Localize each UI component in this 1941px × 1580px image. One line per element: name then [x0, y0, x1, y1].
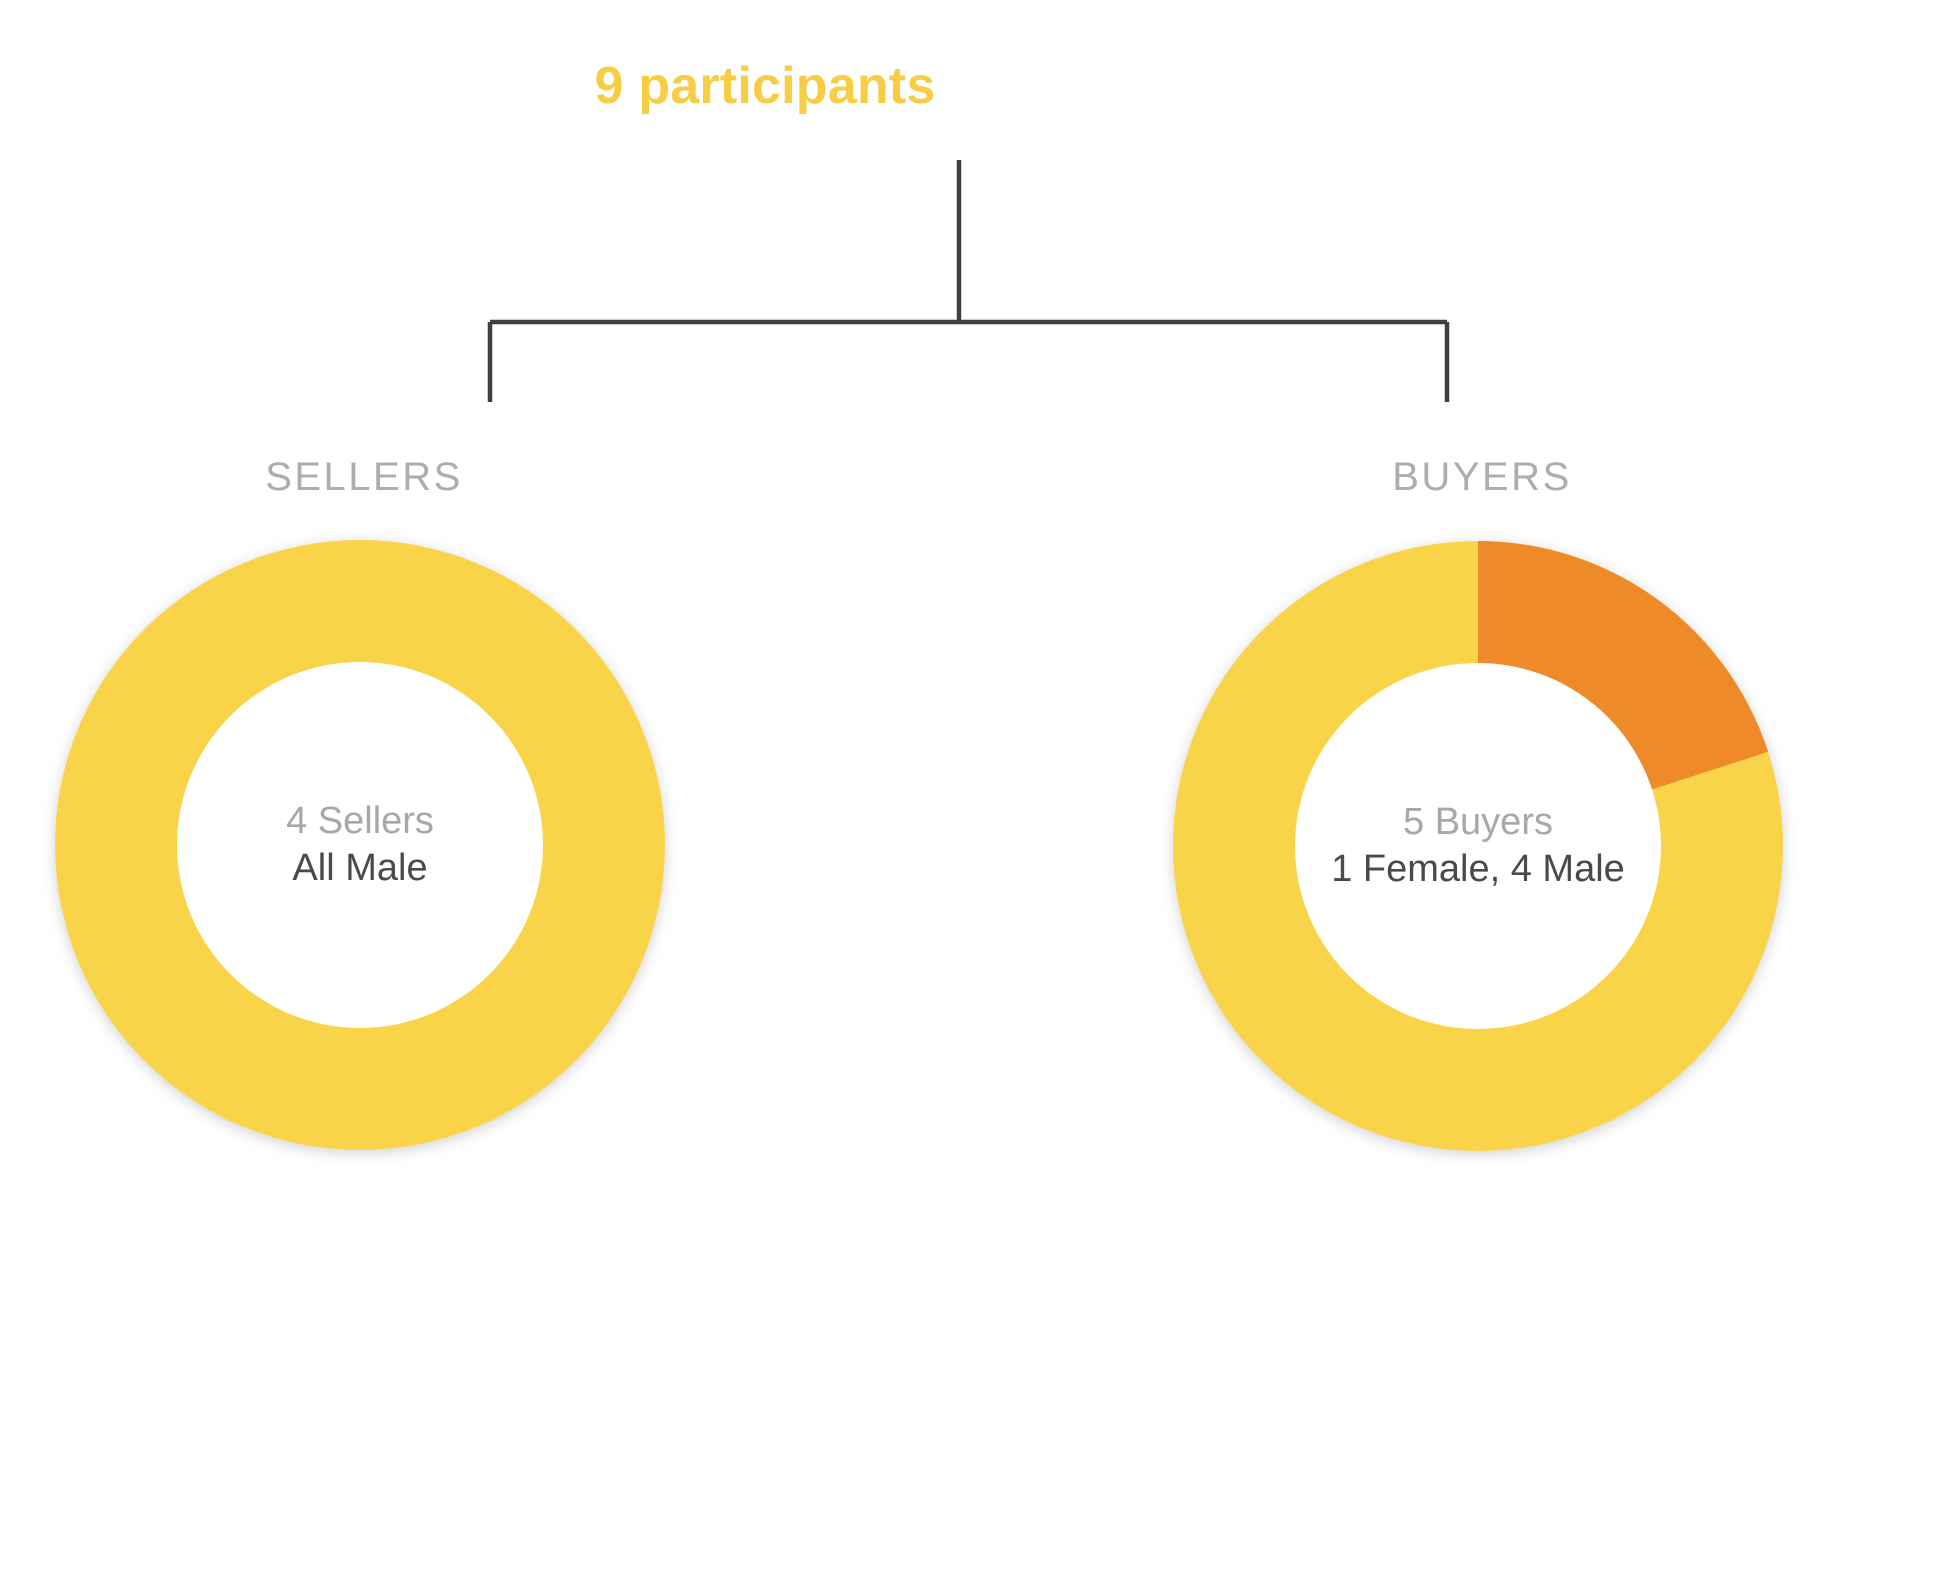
- donut-sellers-svg: [40, 525, 680, 1165]
- donut-hole: [1295, 663, 1661, 1029]
- donut-buyers-svg: [1158, 526, 1798, 1166]
- diagram-canvas: 9 participants SELLERS: [0, 0, 1941, 1580]
- donut-hole: [177, 662, 543, 1028]
- branch-label-sellers: SELLERS: [104, 455, 624, 500]
- connector-lines: [490, 160, 1447, 402]
- donut-chart-sellers: 4 Sellers All Male: [40, 525, 680, 1165]
- branch-label-buyers: BUYERS: [1222, 455, 1742, 500]
- donut-chart-buyers: 5 Buyers 1 Female, 4 Male: [1158, 526, 1798, 1166]
- page-title: 9 participants: [0, 56, 1530, 116]
